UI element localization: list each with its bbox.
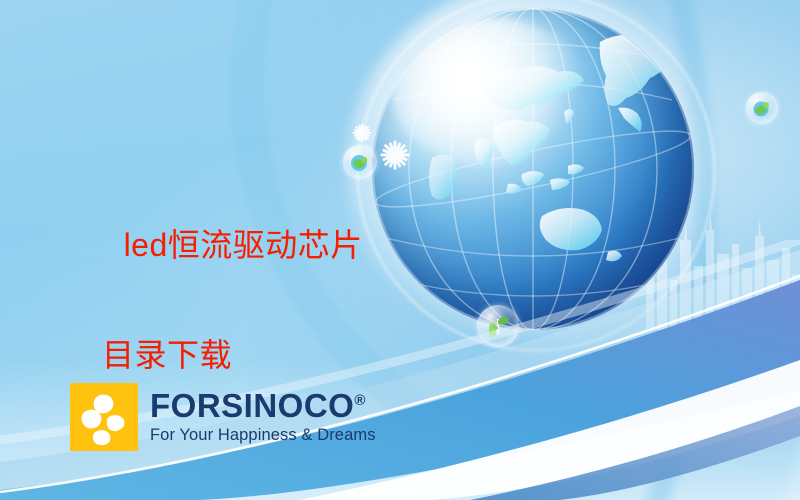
headline-line-2: 目录下载 — [86, 328, 363, 383]
brand-name-text: FORSINOCO — [150, 387, 354, 424]
brand-text: FORSINOCO® For Your Happiness & Dreams — [150, 389, 376, 445]
brand-name: FORSINOCO® — [150, 389, 376, 423]
slide-canvas: led恒流驱动芯片 目录下载 FORSINOCO® For Your Happi… — [0, 0, 800, 500]
four-petal-flower-icon — [70, 383, 138, 451]
registered-mark: ® — [354, 392, 366, 409]
headline-line-1: led恒流驱动芯片 — [124, 227, 363, 263]
brand-logo: FORSINOCO® For Your Happiness & Dreams — [70, 383, 376, 451]
brand-tagline: For Your Happiness & Dreams — [150, 425, 376, 446]
bubble-leaf-icon — [746, 92, 778, 124]
